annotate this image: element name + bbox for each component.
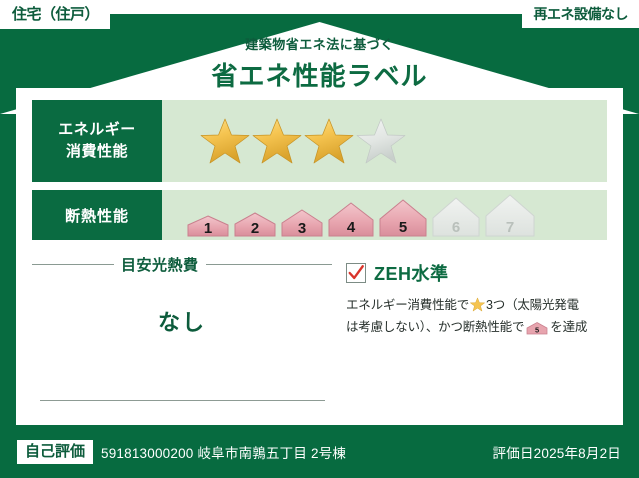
energy-performance-label: エネルギー 消費性能 [32, 100, 162, 182]
svg-text:3: 3 [298, 220, 306, 237]
utility-cost-rule-left [32, 264, 114, 265]
energy-label-line2: 消費性能 [66, 141, 128, 163]
star-filled-icon [304, 117, 354, 165]
insulation-house-6-icon: 6 [431, 195, 481, 237]
star-empty-icon [356, 117, 406, 165]
lower-section: 目安光熱費 なし ZEH水準 エネルギー消費性能で3つ（太陽光 [16, 252, 623, 425]
page-title: 省エネ性能ラベル [0, 56, 639, 93]
zeh-description: エネルギー消費性能で3つ（太陽光発電 は考慮しない）、かつ断熱性能で5を達成 [346, 295, 608, 338]
svg-text:5: 5 [399, 219, 407, 236]
insulation-house-3-icon: 3 [280, 203, 324, 237]
footer-id-address: 591813000200 岐阜市南鶉五丁目 2号棟 [101, 442, 346, 462]
utility-cost-panel: 目安光熱費 なし [32, 252, 332, 425]
inline-star-icon [470, 297, 485, 312]
insulation-house-5-icon: 5 [378, 197, 428, 237]
label-card: エネルギー 消費性能 [16, 88, 623, 425]
svg-text:1: 1 [204, 220, 212, 237]
star-rating [200, 117, 406, 165]
utility-cost-bottom-rule [40, 400, 325, 401]
building-type-badge: 住宅（住戸） [0, 0, 110, 29]
zeh-desc-star-count: 3つ（太陽光発電 [486, 298, 579, 312]
energy-label-line1: エネルギー [58, 119, 136, 141]
svg-text:2: 2 [251, 220, 259, 237]
zeh-checkbox[interactable] [346, 263, 366, 283]
energy-performance-value [162, 100, 607, 182]
svg-text:7: 7 [506, 219, 514, 236]
insulation-house-7-icon: 7 [484, 193, 536, 237]
inline-house-badge-icon: 5 [526, 319, 548, 335]
evaluation-type-badge: 自己評価 [17, 440, 93, 464]
insulation-performance-row: 断熱性能 [32, 190, 607, 240]
insulation-performance-value: 1 2 3 4 [162, 190, 607, 240]
svg-text:5: 5 [535, 325, 539, 334]
renewable-equipment-badge: 再エネ設備なし [522, 0, 639, 28]
star-filled-icon [200, 117, 250, 165]
insulation-house-1-icon: 1 [186, 207, 230, 237]
zeh-desc-part1: エネルギー消費性能で [346, 298, 469, 312]
utility-cost-header: 目安光熱費 [32, 254, 332, 275]
check-icon [347, 264, 365, 282]
svg-text:4: 4 [347, 219, 356, 236]
utility-cost-title: 目安光熱費 [121, 254, 199, 275]
utility-cost-rule-right [206, 264, 332, 265]
zeh-desc-part3: を達成 [550, 320, 587, 334]
footer-bar: 自己評価 591813000200 岐阜市南鶉五丁目 2号棟 評価日2025年8… [0, 425, 639, 478]
star-filled-icon [252, 117, 302, 165]
title-block: 建築物省エネ法に基づく 省エネ性能ラベル [0, 34, 639, 93]
insulation-level-scale: 1 2 3 4 [186, 193, 536, 237]
zeh-title: ZEH水準 [374, 260, 449, 286]
zeh-desc-part2: は考慮しない）、かつ断熱性能で [346, 320, 524, 334]
title-subtitle: 建築物省エネ法に基づく [0, 34, 639, 53]
energy-performance-label: 住宅（住戸） 再エネ設備なし 建築物省エネ法に基づく 省エネ性能ラベル エネルギ… [0, 0, 639, 478]
footer-evaluation-date: 評価日2025年8月2日 [493, 442, 621, 462]
insulation-house-2-icon: 2 [233, 205, 277, 237]
insulation-performance-label: 断熱性能 [32, 190, 162, 240]
zeh-panel: ZEH水準 エネルギー消費性能で3つ（太陽光発電 は考慮しない）、かつ断熱性能で… [346, 260, 608, 338]
zeh-header: ZEH水準 [346, 260, 608, 286]
utility-cost-value: なし [32, 305, 332, 337]
insulation-house-4-icon: 4 [327, 199, 375, 237]
svg-text:6: 6 [452, 219, 460, 236]
energy-performance-row: エネルギー 消費性能 [32, 100, 607, 182]
